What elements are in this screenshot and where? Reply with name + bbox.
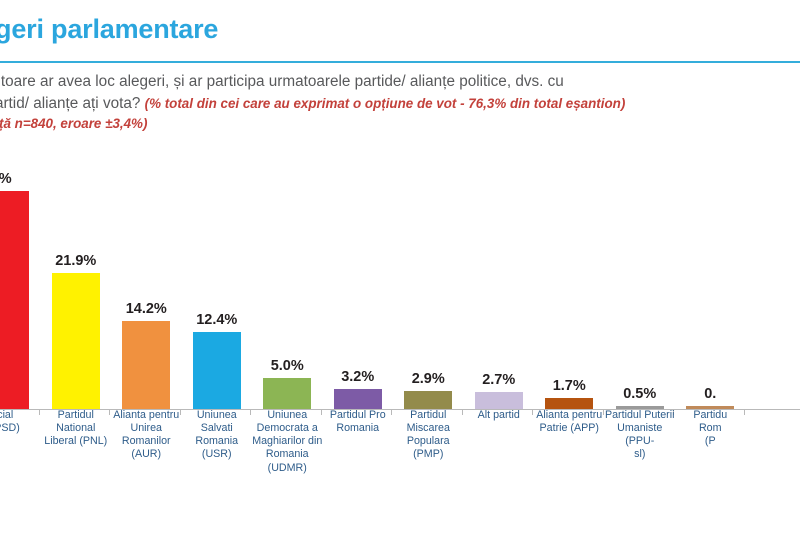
category-label-line: Partidul Miscarea [393,409,464,435]
category-label-line: Alianta pentru [534,409,605,422]
bar-4[interactable]: 5.0% [263,378,311,409]
category-label-line: Maghiarilor din [252,435,323,448]
category-label-6[interactable]: Partidul MiscareaPopulara (PMP) [393,409,464,462]
category-label-5[interactable]: Partidul ProRomania [323,409,394,435]
bar-2[interactable]: 14.2% [122,321,170,409]
bar-8[interactable]: 1.7% [545,398,593,409]
category-label-line: Partidul Puterii [605,409,676,422]
bar-value-label: 2.9% [412,371,445,387]
category-label-line: Romania (USR) [182,435,253,461]
bar-rect[interactable] [334,389,382,409]
bar-value-label: 1.7% [553,378,586,394]
category-label-line: Romania [323,422,394,435]
category-label-line: Liberal (PNL) [41,435,112,448]
bar-rect[interactable] [545,398,593,409]
category-label-3[interactable]: Uniunea SalvatiRomania (USR) [182,409,253,462]
bar-value-label: 5.0% [271,358,304,374]
category-label-line: Partidu [675,409,746,422]
question-line-1: minica viitoare ar avea loc alegeri, și … [0,71,800,93]
bar-value-label: 0. [704,386,716,402]
bar-rect[interactable] [122,321,170,409]
category-label-line: Unirea [111,422,182,435]
category-label-line: Alt partid [464,409,535,422]
category-label-line: Democrata a [252,422,323,435]
category-label-4[interactable]: UniuneaDemocrata aMaghiarilor dinRomania… [252,409,323,475]
bar-chart: %21.9%14.2%12.4%5.0%3.2%2.9%2.7%1.7%0.5%… [0,150,800,410]
category-label-9[interactable]: Partidul PuteriiUmaniste (PPU-sl) [605,409,676,462]
bar-7[interactable]: 2.7% [475,392,523,409]
bar-rect[interactable] [52,273,100,409]
title-divider [0,61,800,63]
category-label-line: Patrie (APP) [534,422,605,435]
bar-value-label: 14.2% [126,301,167,317]
question-block: minica viitoare ar avea loc alegeri, și … [0,71,800,133]
question-text-2: ii cărui partid/ alianțe ați vota? [0,95,140,112]
bar-5[interactable]: 3.2% [334,389,382,409]
bar-rect[interactable] [193,332,241,409]
category-label-10[interactable]: PartiduRom(P [675,409,746,448]
question-note-1: (% total din cei care au exprimat o opți… [145,96,626,111]
poll-slide: t alegeri parlamentare minica viitoare a… [0,0,800,534]
bar-value-label: 0.5% [623,386,656,402]
category-label-2[interactable]: Alianta pentruUnireaRomanilor (AUR) [111,409,182,462]
question-note-2: de referință n=840, eroare ±3,4%) [0,114,800,133]
bar-value-label: 3.2% [341,369,374,385]
category-label-line: Populara (PMP) [393,435,464,461]
category-label-line: Partidul Pro [323,409,394,422]
category-label-line: (P [675,435,746,448]
bar-rect[interactable] [263,378,311,409]
category-label-7[interactable]: Alt partid [464,409,535,422]
category-label-line: cial [0,409,41,422]
category-label-1[interactable]: Partidul NationalLiberal (PNL) [41,409,112,448]
category-label-line: Alianta pentru [111,409,182,422]
category-label-0[interactable]: cial(PSD) [0,409,41,435]
category-label-line: Uniunea Salvati [182,409,253,435]
category-label-line: sl) [605,448,676,461]
bar-1[interactable]: 21.9% [52,273,100,409]
bar-3[interactable]: 12.4% [193,332,241,409]
question-line-2: ii cărui partid/ alianțe ați vota? (% to… [0,93,800,115]
bar-value-label: 2.7% [482,372,515,388]
category-label-line: Umaniste (PPU- [605,422,676,448]
page-title: t alegeri parlamentare [0,14,642,45]
category-label-line: Romania [252,448,323,461]
bar-value-label: % [0,171,12,187]
category-label-line: Partidul National [41,409,112,435]
bar-rect[interactable] [475,392,523,409]
category-label-line: (PSD) [0,422,41,435]
bar-rect[interactable] [404,391,452,409]
category-label-8[interactable]: Alianta pentruPatrie (APP) [534,409,605,435]
category-label-line: Romanilor (AUR) [111,435,182,461]
bar-value-label: 21.9% [55,253,96,269]
category-label-line: (UDMR) [252,462,323,475]
category-label-line: Rom [675,422,746,435]
bar-0[interactable]: % [0,191,29,409]
bar-value-label: 12.4% [196,312,237,328]
category-label-line: Uniunea [252,409,323,422]
bar-6[interactable]: 2.9% [404,391,452,409]
bar-rect[interactable] [0,191,29,409]
